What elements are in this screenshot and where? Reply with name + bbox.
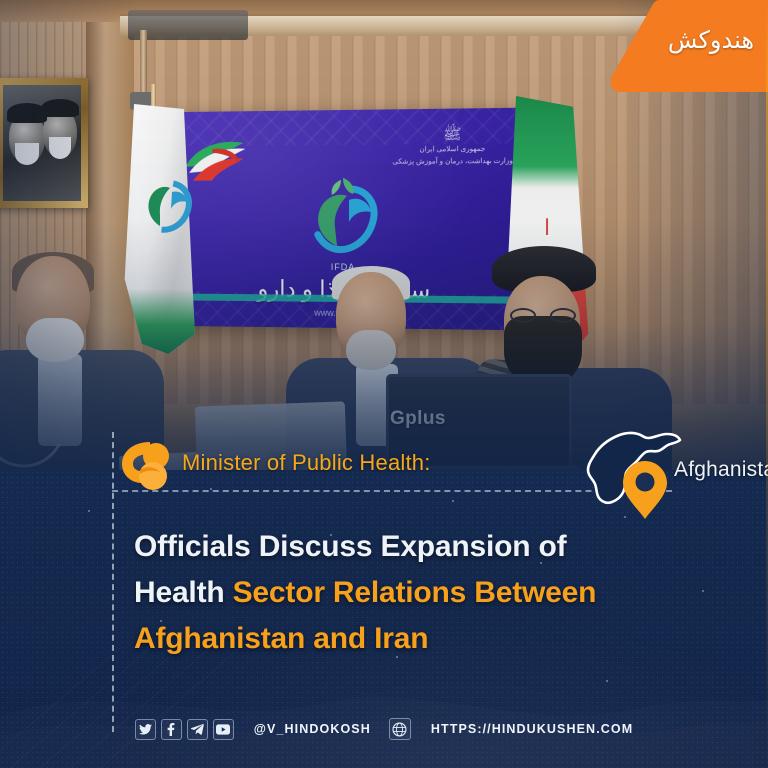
quote-icon bbox=[120, 440, 176, 492]
hindukosh-logo-text: هندوکش bbox=[668, 26, 754, 54]
headline-line-2-white: Health bbox=[134, 576, 233, 609]
news-poster: IFDA سازمان غذا و دارو www.fda.gov.ir ﷺ … bbox=[0, 0, 768, 768]
social-links bbox=[135, 719, 234, 740]
twitter-icon[interactable] bbox=[135, 719, 156, 740]
location-label: Afghanistan bbox=[674, 458, 768, 482]
headline-line-2: Health Sector Relations Between bbox=[134, 570, 664, 616]
social-handle: @V_HINDOKOSH bbox=[254, 722, 371, 736]
globe-icon bbox=[389, 718, 411, 740]
map-pin-icon bbox=[622, 460, 668, 520]
headline-line-3: Afghanistan and Iran bbox=[134, 616, 664, 662]
youtube-icon[interactable] bbox=[213, 719, 234, 740]
headline-line-2-orange: Sector Relations Between bbox=[233, 576, 597, 609]
footer-bar: @V_HINDOKOSH HTTPS://HINDUKUSHEN.COM bbox=[0, 706, 768, 752]
headline-line-3-orange: Afghanistan and Iran bbox=[134, 622, 428, 655]
dashed-guide-vertical bbox=[112, 432, 114, 732]
website-url: HTTPS://HINDUKUSHEN.COM bbox=[431, 722, 633, 736]
headline-line-1-white: Officials Discuss Expansion of bbox=[134, 530, 566, 563]
kicker-text: Minister of Public Health: bbox=[182, 450, 431, 476]
telegram-icon[interactable] bbox=[187, 719, 208, 740]
headline-line-1: Officials Discuss Expansion of bbox=[134, 524, 664, 570]
hindukosh-logo[interactable]: هندوکش bbox=[590, 0, 768, 92]
headline: Officials Discuss Expansion of Health Se… bbox=[134, 524, 664, 663]
location-badge: Afghanistan bbox=[586, 424, 768, 516]
facebook-icon[interactable] bbox=[161, 719, 182, 740]
